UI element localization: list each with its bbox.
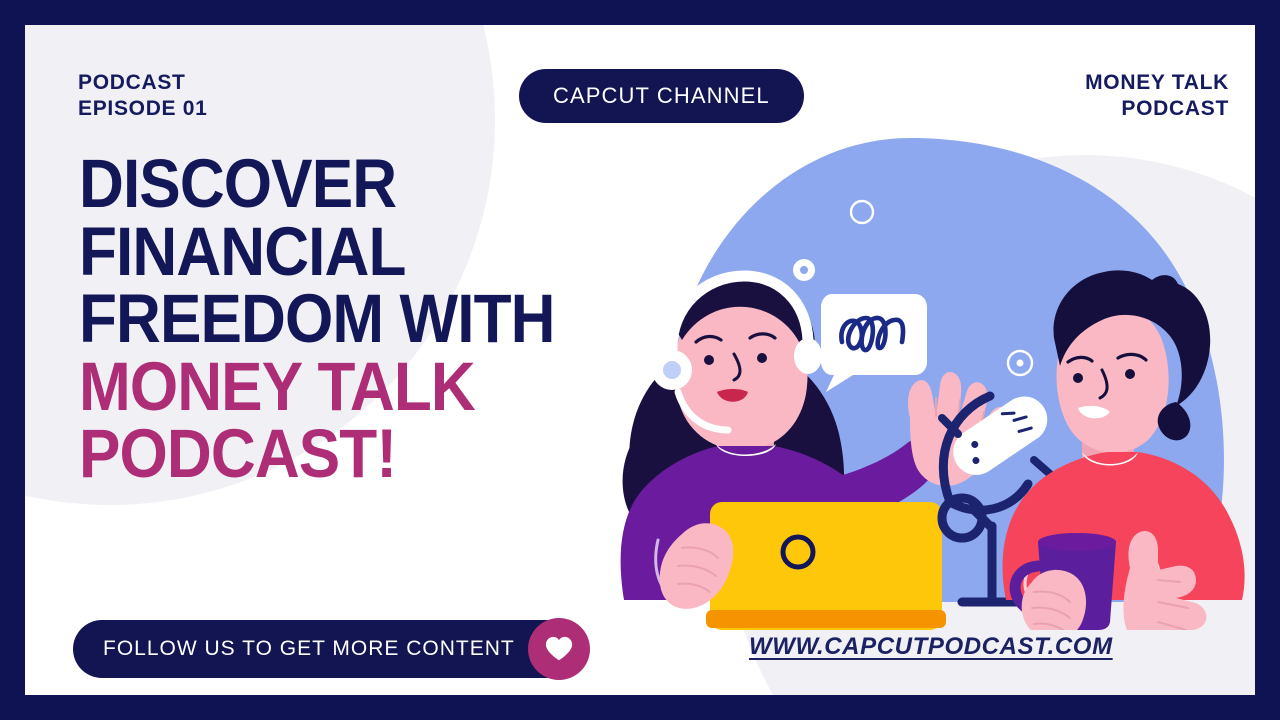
headset-earcup-right xyxy=(794,338,822,374)
poster-frame: PODCAST EPISODE 01 CAPCUT CHANNEL MONEY … xyxy=(0,0,1280,720)
episode-eyebrow: PODCAST EPISODE 01 xyxy=(78,70,208,122)
headline-line-3: FREEDOM WITH xyxy=(79,285,565,353)
yellow-laptop xyxy=(706,502,946,630)
channel-pill-button[interactable]: CAPCUT CHANNEL xyxy=(519,69,804,123)
channel-pill-label: CAPCUT CHANNEL xyxy=(553,83,770,109)
brand-label: MONEY TALK PODCAST xyxy=(1085,70,1229,122)
decor-circle-dot-mid xyxy=(793,259,815,281)
headline-line-1: DISCOVER xyxy=(79,150,565,218)
headline-line-4: MONEY TALK xyxy=(79,353,565,421)
heart-icon[interactable] xyxy=(528,618,590,680)
headline-line-5: PODCAST! xyxy=(79,420,565,488)
headline-block: DISCOVER FINANCIAL FREEDOM WITH MONEY TA… xyxy=(79,150,619,488)
headline-line-2: FINANCIAL xyxy=(79,218,565,286)
website-url-link[interactable]: WWW.CAPCUTPODCAST.COM xyxy=(749,633,1113,661)
two-podcast-hosts-illustration xyxy=(610,130,1250,630)
poster-canvas: PODCAST EPISODE 01 CAPCUT CHANNEL MONEY … xyxy=(25,25,1255,695)
follow-cta-label: FOLLOW US TO GET MORE CONTENT xyxy=(103,637,515,661)
eyebrow-line-1: PODCAST xyxy=(78,70,208,96)
follow-cta[interactable]: FOLLOW US TO GET MORE CONTENT xyxy=(73,620,585,678)
brand-line-1: MONEY TALK xyxy=(1085,70,1229,96)
eyebrow-line-2: EPISODE 01 xyxy=(78,96,208,122)
brand-line-2: PODCAST xyxy=(1085,96,1229,122)
follow-cta-bar[interactable]: FOLLOW US TO GET MORE CONTENT xyxy=(73,620,585,678)
